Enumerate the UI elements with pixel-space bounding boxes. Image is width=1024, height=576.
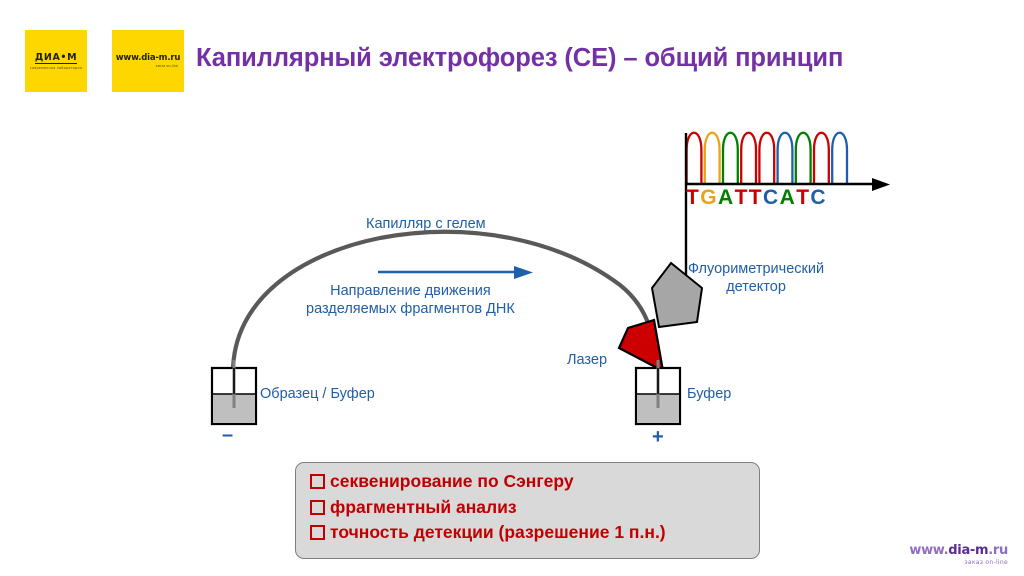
peak-c — [778, 133, 793, 185]
sequence-base-c: C — [810, 186, 827, 210]
sequence-base-t: T — [686, 186, 700, 210]
label-migration-direction-line2: разделяемых фрагментов ДНК — [306, 301, 515, 319]
label-migration-direction-line1: Направление движения — [306, 283, 515, 301]
peak-g — [705, 133, 720, 185]
electrode-cathode-sign: – — [222, 424, 233, 447]
sequence-base-t: T — [735, 186, 749, 210]
sequence-base-c: C — [763, 186, 780, 210]
electropherogram-sequence: TGATTCATC — [686, 186, 827, 210]
peak-t — [687, 133, 702, 185]
footer-logo: www.dia-m.ru заказ on-line — [909, 544, 1008, 566]
list-item: точность детекции (разрешение 1 п.н.) — [310, 524, 759, 542]
footer-url-prefix: www. — [909, 543, 948, 558]
applications-callout: секвенирование по Сэнгеру фрагментный ан… — [295, 462, 760, 559]
list-item-label: точность детекции (разрешение 1 п.н.) — [330, 524, 666, 542]
footer-url-suffix: .ru — [988, 543, 1008, 558]
checkbox-square-icon — [310, 500, 325, 515]
electrode-anode-sign: + — [652, 426, 664, 449]
peak-t — [741, 133, 756, 185]
checkbox-square-icon — [310, 474, 325, 489]
label-detector-line1: Флуориметрический — [688, 261, 824, 279]
checkbox-square-icon — [310, 525, 325, 540]
label-buffer-vial: Буфер — [687, 386, 731, 404]
footer-url: www.dia-m.ru — [909, 544, 1008, 557]
footer-tagline: заказ on-line — [909, 560, 1008, 566]
label-capillary: Капилляр с гелем — [366, 216, 486, 234]
sequence-base-t: T — [796, 186, 810, 210]
slide-canvas: ДИА•М современная лаборатория www.dia-m.… — [0, 0, 1024, 576]
label-laser: Лазер — [567, 352, 607, 370]
electropherogram-axis-arrowhead — [872, 178, 890, 191]
list-item-label: фрагментный анализ — [330, 499, 517, 517]
footer-url-main: dia-m — [948, 543, 988, 558]
migration-arrowhead — [514, 266, 533, 279]
electropherogram-peaks — [687, 133, 847, 185]
label-detector: Флуориметрический детектор — [688, 261, 824, 296]
peak-a — [796, 133, 811, 185]
label-migration-direction: Направление движения разделяемых фрагмен… — [306, 283, 515, 318]
list-item: фрагментный анализ — [310, 499, 759, 517]
label-sample-vial: Образец / Буфер — [260, 386, 375, 404]
list-item: секвенирование по Сэнгеру — [310, 473, 759, 491]
sequence-base-a: A — [718, 186, 735, 210]
peak-c — [832, 133, 847, 185]
peak-t — [759, 133, 774, 185]
list-item-label: секвенирование по Сэнгеру — [330, 473, 574, 491]
laser-icon — [619, 320, 663, 371]
label-detector-line2: детектор — [688, 279, 824, 297]
peak-t — [814, 133, 829, 185]
sequence-base-t: T — [749, 186, 763, 210]
sequence-base-a: A — [780, 186, 797, 210]
sequence-base-g: G — [700, 186, 718, 210]
peak-a — [723, 133, 738, 185]
